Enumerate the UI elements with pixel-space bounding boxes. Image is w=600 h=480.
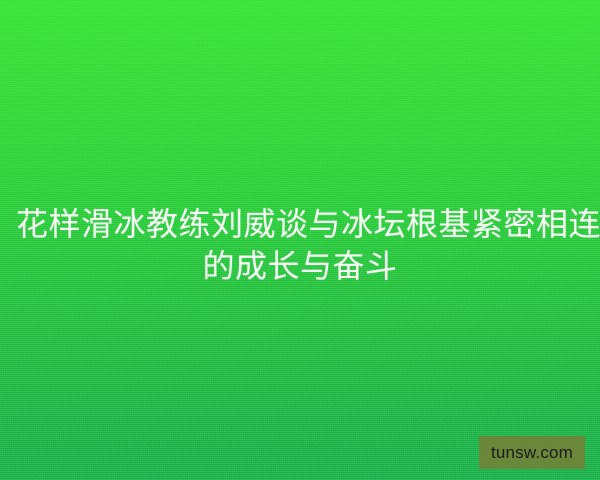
image-canvas: 花样滑冰教练刘威谈与冰坛根基紧密相连 的成长与奋斗 tunsw.com bbox=[0, 0, 600, 480]
watermark-label: tunsw.com bbox=[491, 444, 573, 461]
headline-title: 花样滑冰教练刘威谈与冰坛根基紧密相连 的成长与奋斗 bbox=[0, 203, 600, 287]
headline-line-2: 的成长与奋斗 bbox=[16, 245, 584, 287]
headline-line-1: 花样滑冰教练刘威谈与冰坛根基紧密相连 bbox=[16, 203, 584, 245]
watermark-badge: tunsw.com bbox=[479, 436, 585, 469]
